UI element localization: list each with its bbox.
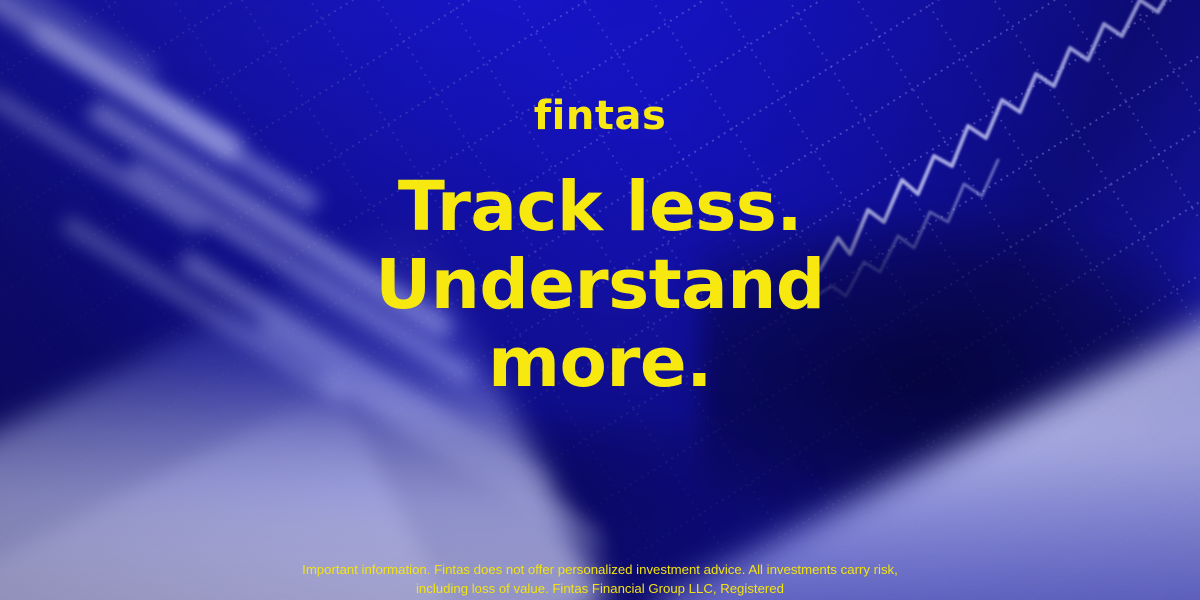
headline: Track less. Understand more. (220, 168, 980, 402)
headline-line-3: more. (220, 324, 980, 402)
banner-content: fintas Track less. Understand more. Impo… (0, 0, 1200, 600)
disclaimer-text: Important information. Fintas does not o… (300, 560, 900, 598)
headline-line-1: Track less. (220, 168, 980, 246)
brand-logo: fintas (534, 96, 667, 136)
headline-line-2: Understand (220, 246, 980, 324)
ad-banner: fintas Track less. Understand more. Impo… (0, 0, 1200, 600)
